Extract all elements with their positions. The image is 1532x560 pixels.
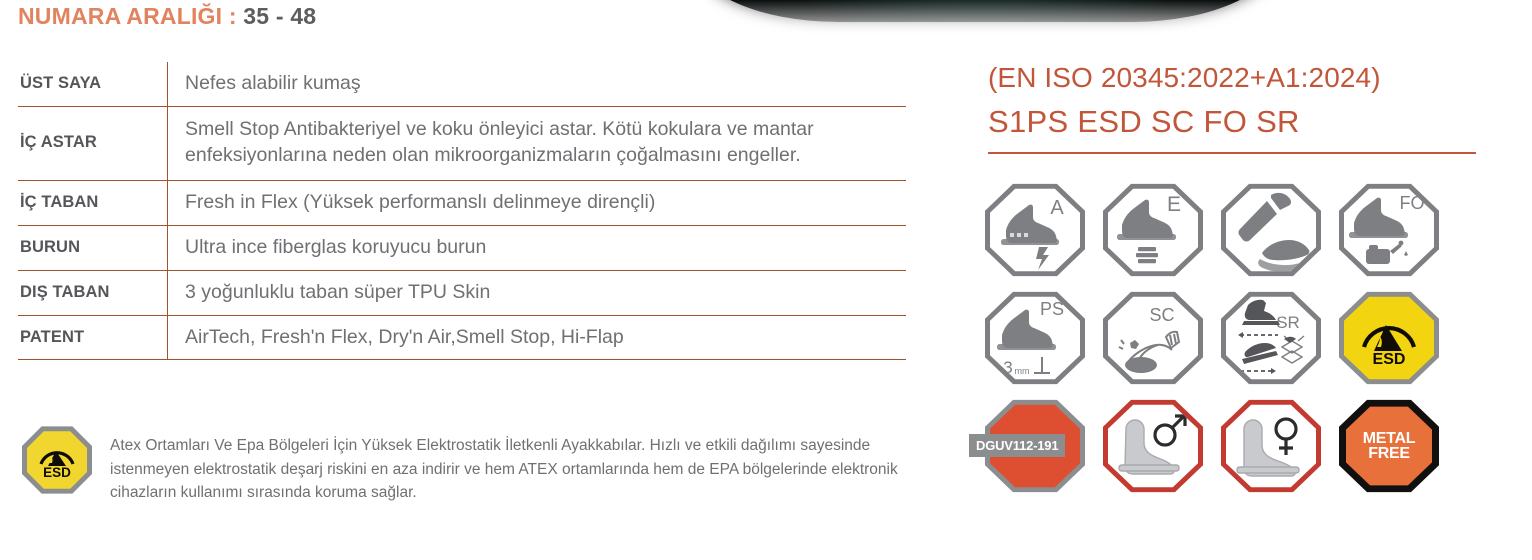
spec-value: Nefes alabilir kumaş <box>168 62 907 106</box>
table-row: BURUN Ultra ince fiberglas koruyucu buru… <box>18 225 906 270</box>
fuel-oil-icon: FO <box>1344 187 1434 273</box>
pictogram-code: E <box>1167 193 1181 216</box>
pictogram-code: ESD <box>1373 351 1406 368</box>
spec-key: BURUN <box>18 225 168 270</box>
mens-last-icon <box>1108 403 1198 489</box>
svg-text:ESD: ESD <box>43 465 71 480</box>
scuff-cap-icon: SC <box>1108 295 1198 381</box>
pictogram-grid: A E <box>976 176 1448 500</box>
standard-norm: (EN ISO 20345:2022+A1:2024) <box>988 62 1381 94</box>
energy-absorption-icon: E <box>1108 187 1198 273</box>
spec-value: Smell Stop Antibakteriyel ve koku önleyi… <box>168 106 907 180</box>
pictogram-code: SC <box>1149 305 1174 325</box>
esd-symbol: ESD <box>34 437 80 483</box>
specification-table: ÜST SAYA Nefes alabilir kumaş İÇ ASTAR S… <box>18 62 906 360</box>
table-row: DIŞ TABAN 3 yoğunluklu taban süper TPU S… <box>18 270 906 315</box>
metal-free-label: METALFREE <box>1363 431 1415 461</box>
pictogram-code: A <box>1050 197 1064 219</box>
table-row: İÇ ASTAR Smell Stop Antibakteriyel ve ko… <box>18 106 906 180</box>
esd-note-block: ESD Atex Ortamları Ve Epa Bölgeleri İçin… <box>22 425 927 505</box>
size-range-heading: NUMARA ARALIĞI : 35 - 48 <box>18 3 316 30</box>
spec-key: PATENT <box>18 315 168 360</box>
table-row: PATENT AirTech, Fresh'n Flex, Dry'n Air,… <box>18 315 906 360</box>
pictogram-penetration-resistance: PS 3 mm <box>983 288 1087 388</box>
pictogram-code: FO <box>1400 193 1425 213</box>
spec-key: İÇ ASTAR <box>18 106 168 180</box>
esd-icon: ESD <box>1355 305 1423 371</box>
esd-note-text: Atex Ortamları Ve Epa Bölgeleri İçin Yük… <box>110 425 900 505</box>
right-standard-column: (EN ISO 20345:2022+A1:2024) S1PS ESD SC … <box>960 0 1532 560</box>
antistatic-icon: A <box>990 187 1080 273</box>
esd-badge-icon: ESD <box>22 425 92 495</box>
dguv-code-banner: DGUV112-191 <box>969 434 1065 457</box>
pictogram-fuel-oil: FO <box>1337 180 1441 280</box>
size-range-label: NUMARA ARALIĞI : <box>18 3 237 29</box>
pictogram-code: SR <box>1276 313 1300 332</box>
spec-value: Ultra ince fiberglas koruyucu burun <box>168 225 907 270</box>
spec-key: ÜST SAYA <box>18 62 168 106</box>
slip-resistance-icon: SR <box>1226 295 1316 381</box>
pictogram-womens-last <box>1219 396 1323 496</box>
penetration-resistance-icon: PS 3 mm <box>990 295 1080 381</box>
spec-key: İÇ TABAN <box>18 180 168 225</box>
penetration-depth-value: 3 <box>1003 358 1012 377</box>
womens-last-icon <box>1226 403 1316 489</box>
pictogram-code: PS <box>1040 299 1064 319</box>
table-row: İÇ TABAN Fresh in Flex (Yüksek performan… <box>18 180 906 225</box>
toe-protection-hammer-icon <box>1226 187 1316 273</box>
pictogram-mens-last <box>1101 396 1205 496</box>
pictogram-metal-free: METALFREE <box>1337 396 1441 496</box>
pictogram-esd: ESD <box>1337 288 1441 388</box>
left-spec-column: NUMARA ARALIĞI : 35 - 48 ÜST SAYA Nefes … <box>0 0 940 560</box>
size-range-value: 35 - 48 <box>243 3 316 29</box>
spec-key: DIŞ TABAN <box>18 270 168 315</box>
standard-divider <box>988 152 1476 154</box>
pictogram-energy-absorption: E <box>1101 180 1205 280</box>
spec-value: AirTech, Fresh'n Flex, Dry'n Air,Smell S… <box>168 315 907 360</box>
pictogram-toe-protection <box>1219 180 1323 280</box>
pictogram-scuff-cap: SC <box>1101 288 1205 388</box>
pictogram-antistatic: A <box>983 180 1087 280</box>
spec-value: 3 yoğunluklu taban süper TPU Skin <box>168 270 907 315</box>
standard-marking: S1PS ESD SC FO SR <box>988 104 1300 140</box>
spec-value: Fresh in Flex (Yüksek performanslı delin… <box>168 180 907 225</box>
table-row: ÜST SAYA Nefes alabilir kumaş <box>18 62 906 106</box>
pictogram-slip-resistance: SR <box>1219 288 1323 388</box>
pictogram-dguv: DGUV112-191 <box>983 396 1087 496</box>
penetration-depth-unit: mm <box>1015 366 1030 376</box>
